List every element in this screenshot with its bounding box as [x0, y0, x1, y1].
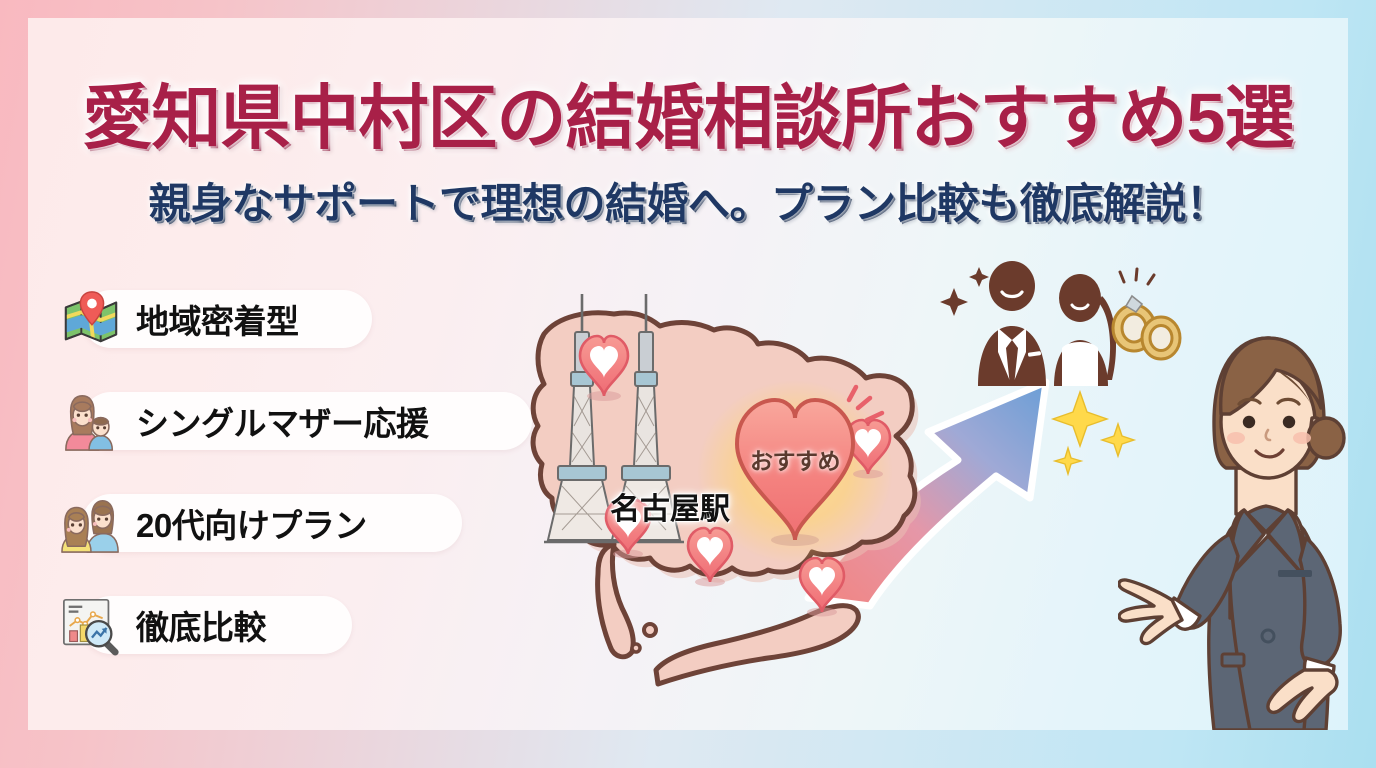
feature-label: 地域密着型: [136, 295, 299, 343]
feature-pill-comparison[interactable]: 徹底比較: [46, 596, 526, 654]
hero-canvas: 愛知県中村区の結婚相談所おすすめ5選 親身なサポートで理想の結婚へ。プラン比較も…: [28, 18, 1348, 730]
mother-child-icon: [60, 390, 122, 452]
page-title: 愛知県中村区の結婚相談所おすすめ5選: [28, 62, 1348, 163]
business-woman-presenting: [1118, 318, 1348, 730]
young-couple-icon: [60, 492, 122, 554]
feature-label: シングルマザー応援: [136, 397, 429, 445]
recommended-heart: おすすめ: [731, 396, 859, 546]
aichi-map: おすすめ 名古屋駅: [518, 286, 988, 730]
feature-pill-single-mother[interactable]: シングルマザー応援: [46, 392, 526, 450]
page-subtitle: 親身なサポートで理想の結婚へ。プラン比較も徹底解説！: [28, 170, 1348, 231]
feature-pill-20s-plan[interactable]: 20代向けプラン: [46, 494, 526, 552]
map-pin-icon: [60, 288, 122, 350]
feature-label: 徹底比較: [136, 601, 266, 649]
feature-list: 地域密着型: [46, 290, 526, 698]
chart-magnifier-icon: [60, 594, 122, 656]
recommended-heart-label: おすすめ: [731, 442, 859, 476]
station-label: 名古屋駅: [610, 484, 730, 528]
feature-pill-local[interactable]: 地域密着型: [46, 290, 526, 348]
feature-label: 20代向けプラン: [136, 499, 367, 547]
